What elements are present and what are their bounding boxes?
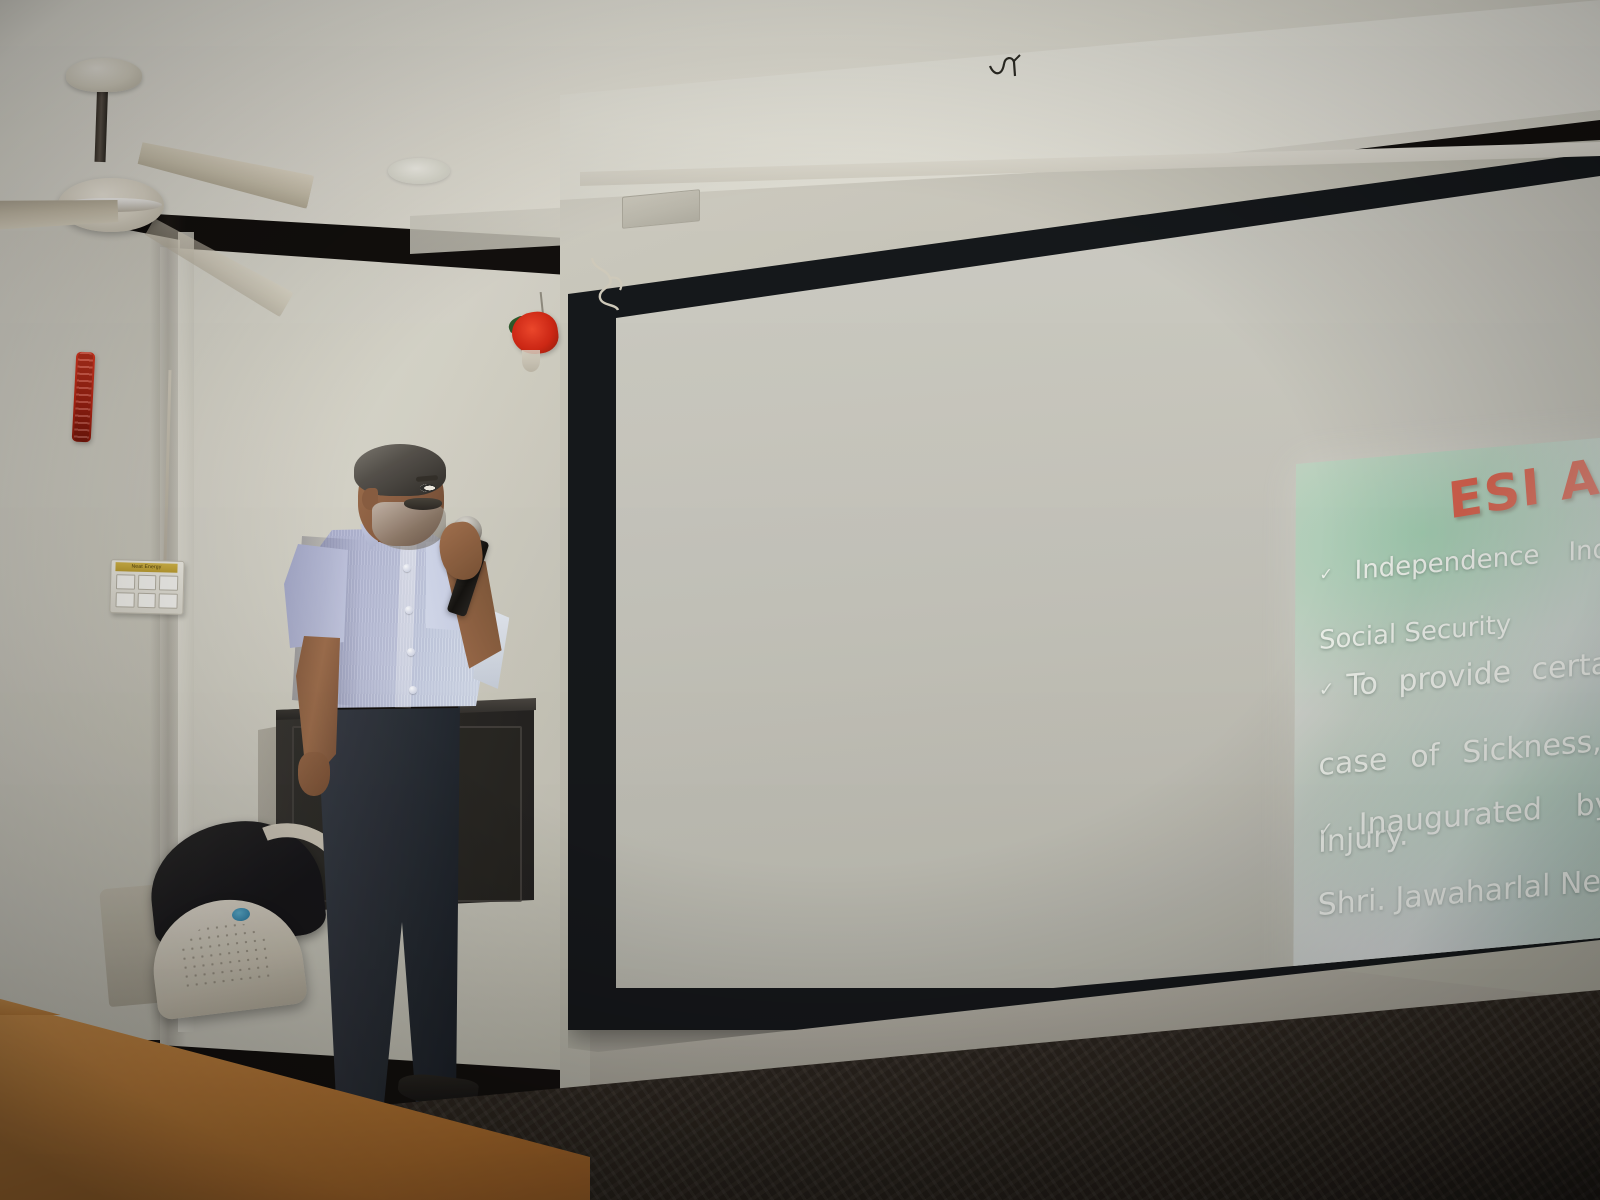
projected-slide: ESI ACT 1948 ✓Independence India’s first… bbox=[1293, 396, 1600, 1034]
switch-row[interactable] bbox=[115, 592, 177, 609]
switch-plate-label: Neat Energy bbox=[115, 562, 177, 573]
check-icon: ✓ bbox=[1319, 562, 1353, 584]
switch-key[interactable] bbox=[159, 575, 178, 590]
shirt-sleeve-left bbox=[284, 544, 348, 648]
ceiling-fan-canopy bbox=[66, 58, 142, 92]
wall-switch-plate[interactable]: Neat Energy bbox=[109, 559, 184, 615]
shirt-button bbox=[403, 564, 411, 572]
presenter-beard bbox=[372, 502, 446, 550]
switch-key[interactable] bbox=[115, 592, 134, 607]
slide-title: ESI ACT 1948 bbox=[1446, 408, 1600, 530]
shirt-button bbox=[405, 606, 413, 614]
check-icon: ✓ bbox=[1318, 817, 1358, 841]
switch-key[interactable] bbox=[138, 575, 157, 590]
ceiling-hook-icon bbox=[988, 52, 1024, 80]
switch-key[interactable] bbox=[116, 574, 135, 589]
presentation-room-photo: Neat Energy ESI ACT 1948 ✓Independence I… bbox=[0, 0, 1600, 1200]
presenter-arm-left bbox=[296, 636, 340, 770]
ceiling-light-fixture bbox=[388, 158, 450, 184]
shirt-button bbox=[409, 686, 417, 694]
presenter bbox=[280, 440, 540, 1100]
switch-key[interactable] bbox=[159, 593, 178, 608]
check-icon: ✓ bbox=[1319, 678, 1346, 701]
presenter-hand-left bbox=[298, 752, 330, 796]
switch-row[interactable] bbox=[116, 574, 178, 591]
presenter-eye bbox=[420, 484, 436, 492]
presenter-moustache bbox=[404, 498, 442, 510]
flower-tassel bbox=[522, 350, 540, 372]
switch-key[interactable] bbox=[137, 593, 156, 608]
screen-cable bbox=[588, 258, 634, 312]
shirt-button bbox=[407, 648, 415, 656]
